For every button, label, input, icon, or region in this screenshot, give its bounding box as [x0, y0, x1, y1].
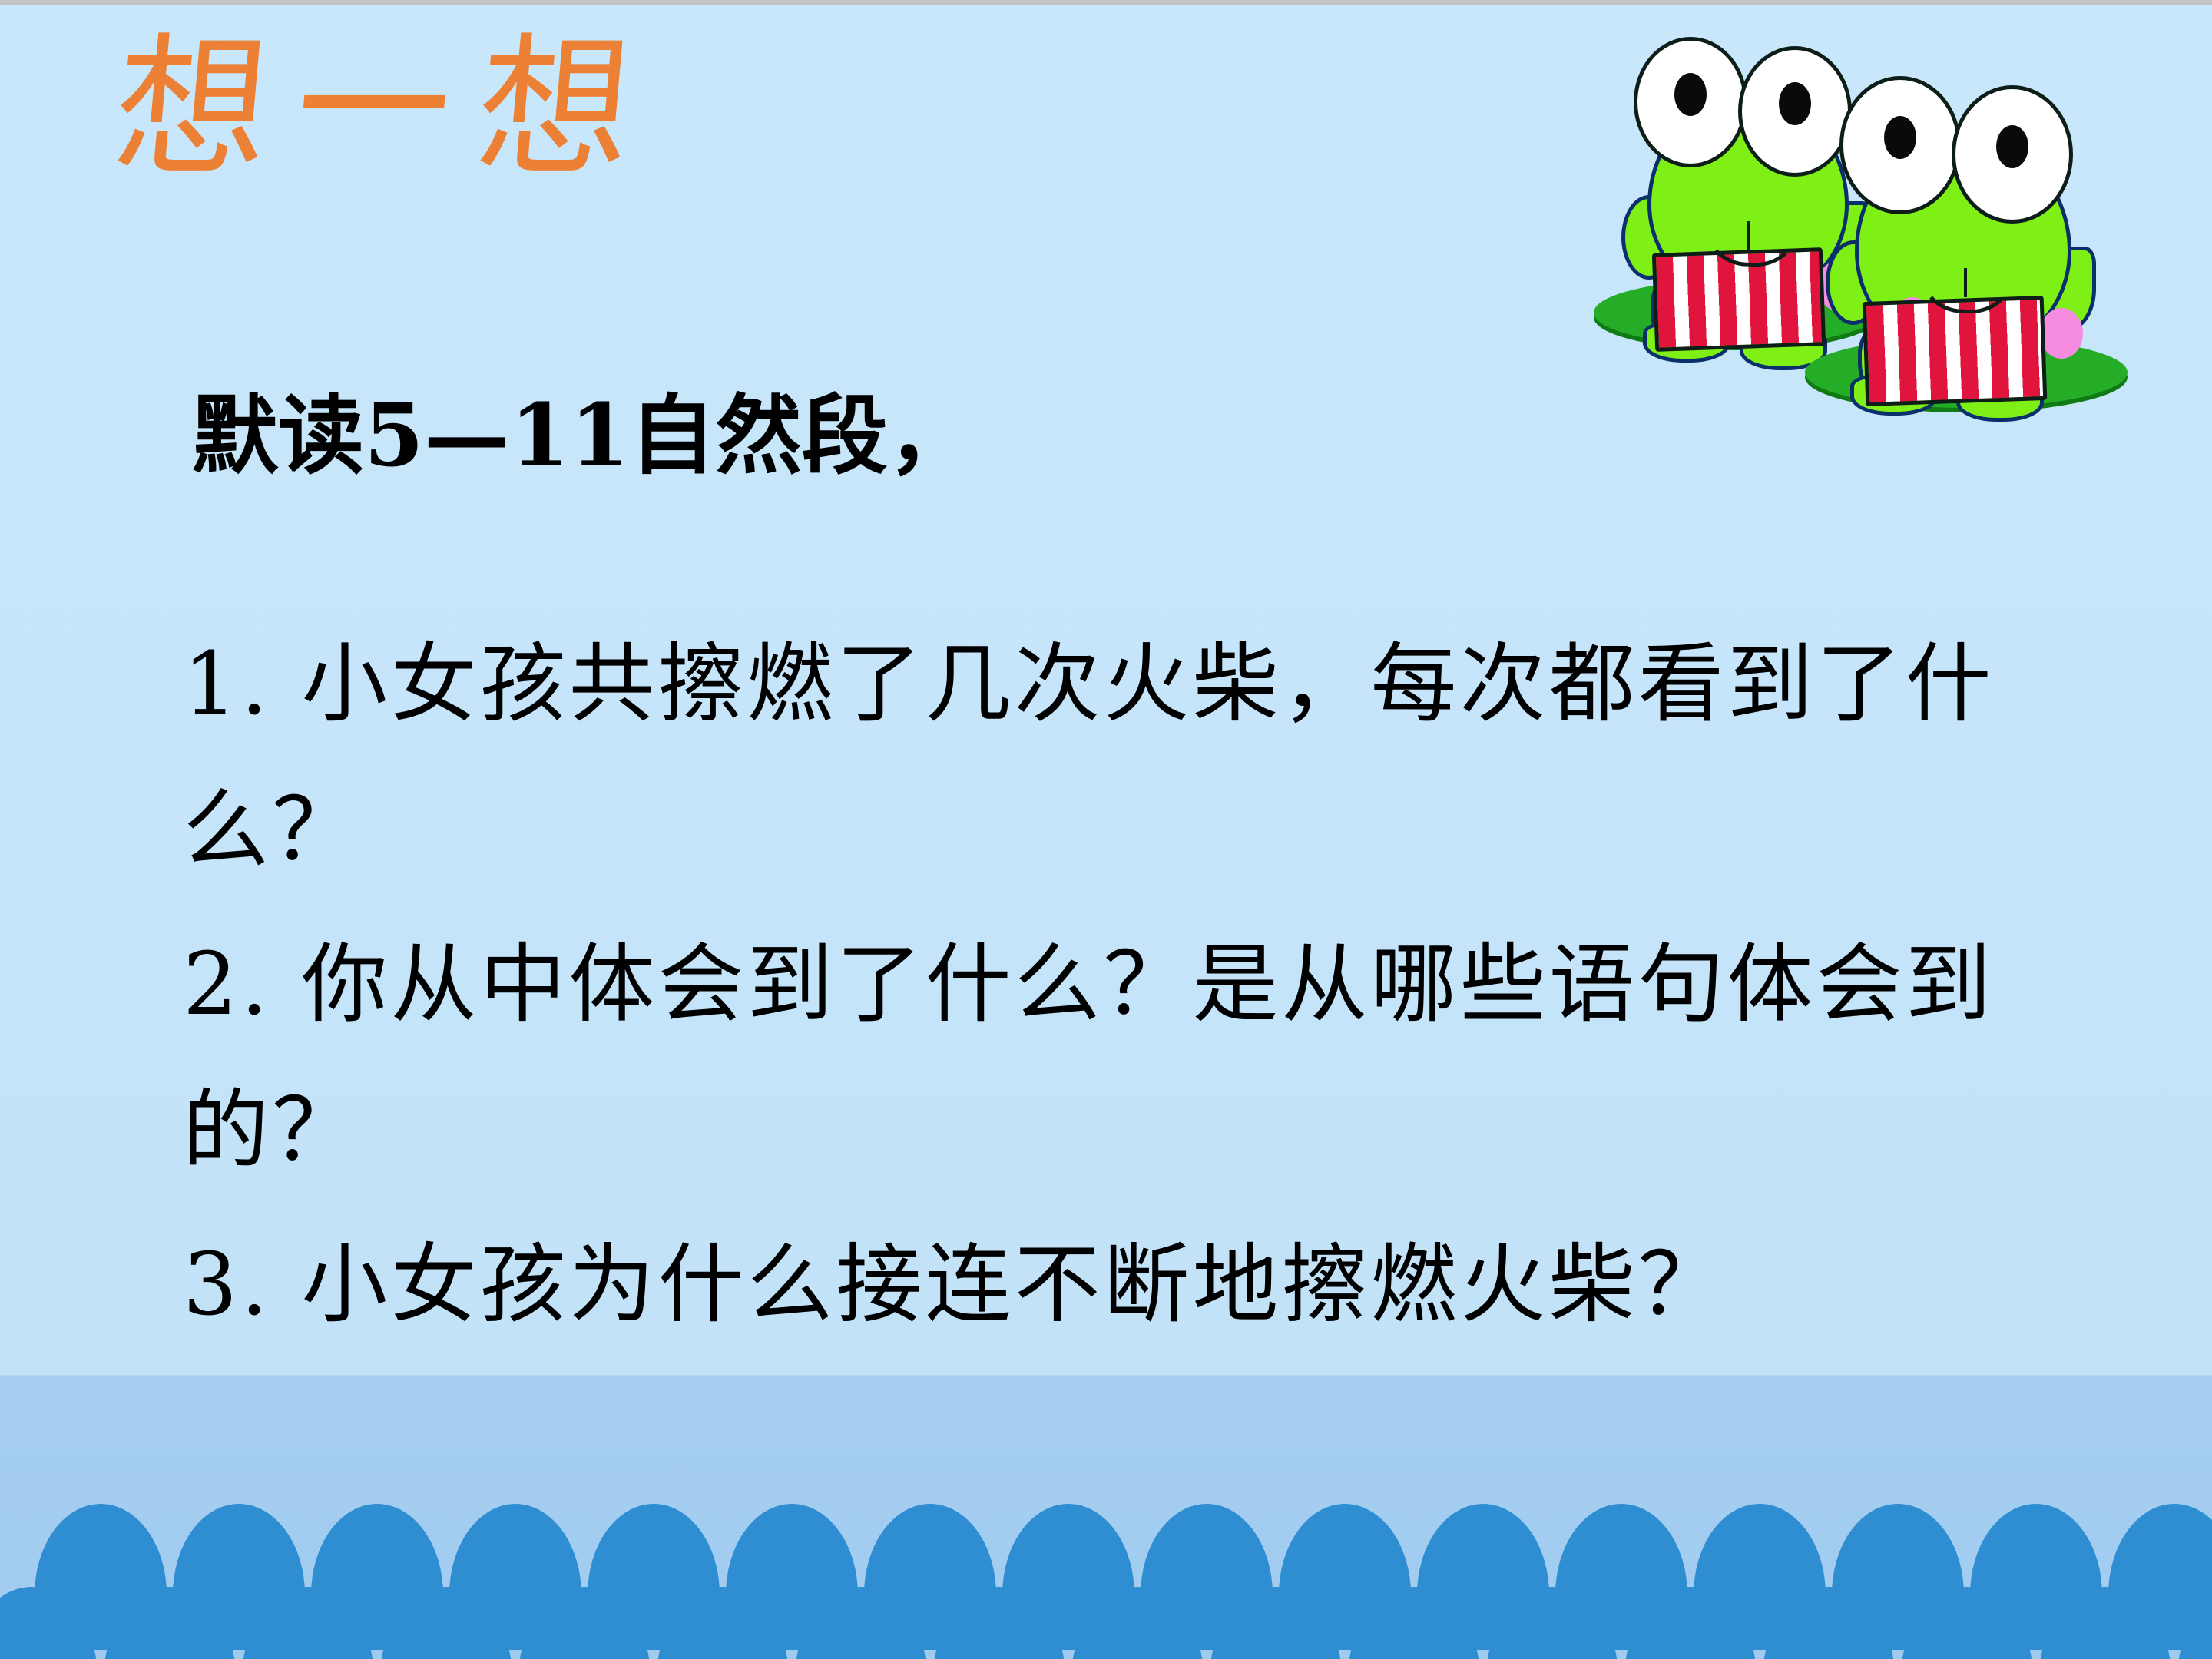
scallop-shape: [0, 1587, 98, 1659]
frog-eye: [1634, 37, 1747, 167]
scallop-shape: [518, 1587, 651, 1659]
frog-pupil: [1996, 125, 2028, 168]
frog-pupil: [1674, 73, 1707, 116]
scallop-shape: [1210, 1587, 1342, 1659]
slide-canvas: 想一想: [0, 0, 2212, 1659]
frog-right-icon: [1824, 62, 2124, 408]
frog-mouth-line: [1747, 221, 1750, 250]
scallop-shape: [380, 1587, 512, 1659]
reading-instruction: 默读5—11自然段，: [192, 382, 974, 490]
scallop-shape: [2039, 1587, 2171, 1659]
question-list: 1. 小女孩共擦燃了几次火柴，每次都看到了什么？2. 你从中体会到了什么？是从哪…: [183, 611, 2011, 1366]
scallop-shape: [1071, 1587, 1204, 1659]
scallop-shape: [2177, 1587, 2212, 1659]
scallop-shape: [933, 1587, 1065, 1659]
scallop-shape: [104, 1587, 236, 1659]
scallop-shape: [1763, 1587, 1895, 1659]
scallop-row-bottom: [0, 1587, 2212, 1659]
frog-illustration: [1601, 20, 2200, 404]
scallop-shape: [1624, 1587, 1757, 1659]
frog-pupil: [1779, 82, 1811, 125]
scallop-shape: [1348, 1587, 1480, 1659]
frog-pupil: [1884, 116, 1916, 159]
scallop-shape: [1901, 1587, 2033, 1659]
frog-mouth-line: [1964, 268, 1967, 297]
question-item: 3. 小女孩为什么接连不断地擦燃火柴？: [183, 1212, 2011, 1358]
scallop-shape: [795, 1587, 927, 1659]
page-title: 想一想: [108, 32, 666, 186]
frog-eye: [1839, 76, 1961, 214]
frog-cheek: [2040, 308, 2083, 359]
scallop-shape: [657, 1587, 789, 1659]
question-item: 2. 你从中体会到了什么？是从哪些语句体会到的？: [183, 912, 2011, 1204]
frog-eye: [1952, 85, 2073, 224]
question-item: 1. 小女孩共擦燃了几次火柴，每次都看到了什么？: [183, 611, 2011, 904]
scallop-shape: [242, 1587, 374, 1659]
scallop-shape: [1486, 1587, 1618, 1659]
